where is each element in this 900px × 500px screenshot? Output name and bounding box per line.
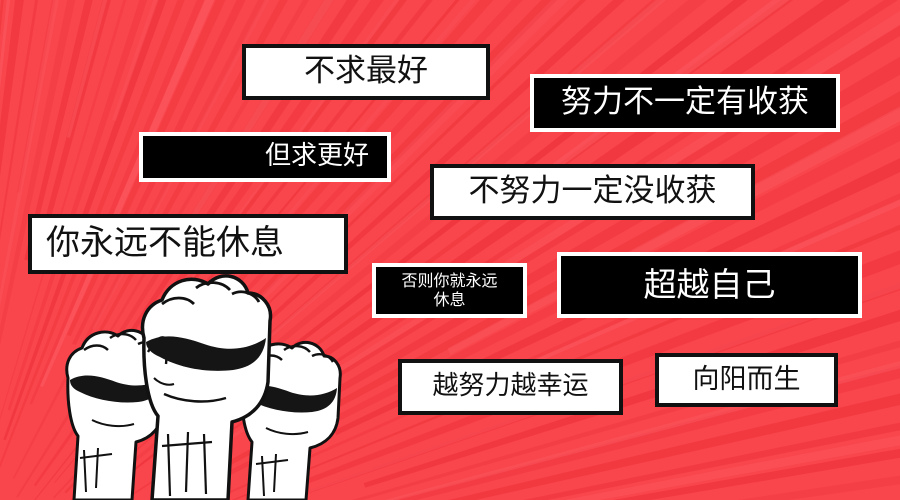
slogan-text: 不求最好 <box>246 54 486 90</box>
slogan-text: 向阳而生 <box>659 364 834 395</box>
motivational-poster: 不求最好 努力不一定有收获 但求更好 不努力一定没收获 你永远不能休息 否则你就… <box>0 0 900 500</box>
slogan-box-nuli: 努力不一定有收获 <box>530 74 840 132</box>
slogan-text: 你永远不能休息 <box>46 224 344 263</box>
slogan-box-yongyuan: 你永远不能休息 <box>28 214 348 274</box>
slogan-box-chaoyue: 超越自己 <box>557 252 862 318</box>
slogan-box-xiangyang: 向阳而生 <box>655 353 838 407</box>
slogan-text: 但求更好 <box>143 142 369 172</box>
slogan-box-fouze: 否则你就永远 休息 <box>372 263 527 318</box>
slogan-box-danqiu: 但求更好 <box>139 132 391 182</box>
slogan-text: 努力不一定有收获 <box>534 85 836 121</box>
slogan-box-bunuli: 不努力一定没收获 <box>430 164 755 220</box>
slogan-box-yuenuli: 越努力越幸运 <box>398 359 623 415</box>
slogan-box-buqiuzuihao: 不求最好 <box>242 44 490 100</box>
slogan-text: 否则你就永远 休息 <box>376 272 523 309</box>
slogan-text: 越努力越幸运 <box>402 372 619 402</box>
slogan-text: 超越自己 <box>561 266 858 304</box>
raised-fists-illustration <box>40 260 360 500</box>
slogan-text: 不努力一定没收获 <box>434 174 751 210</box>
